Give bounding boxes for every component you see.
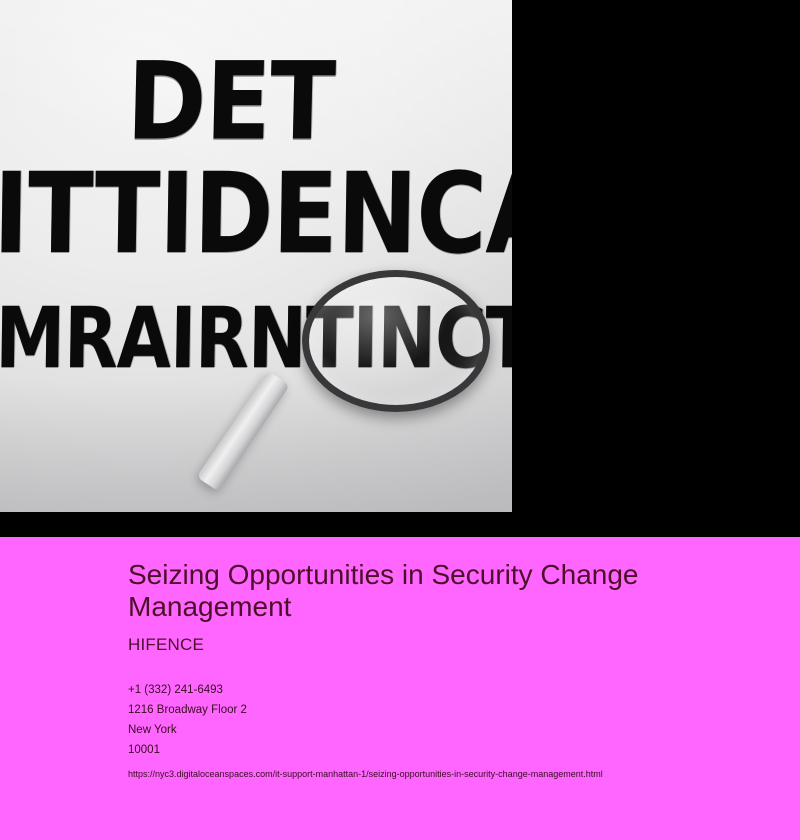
contact-block: +1 (332) 241-6493 1216 Broadway Floor 2 … [128, 681, 760, 760]
contact-street: 1216 Broadway Floor 2 [128, 701, 760, 721]
hero-scrawl-line-1: DET [125, 48, 335, 156]
brand-name: HIFENCE [128, 635, 760, 655]
page-title: Seizing Opportunities in Security Change… [128, 559, 728, 623]
info-content: Seizing Opportunities in Security Change… [128, 559, 760, 781]
article-hero-image: DET ITTIDENCA MRAIRNTINCTIDN [0, 0, 512, 512]
page-root: DET ITTIDENCA MRAIRNTINCTIDN Seizing Opp… [0, 0, 800, 840]
source-url-link[interactable]: https://nyc3.digitaloceanspaces.com/it-s… [128, 768, 760, 781]
hero-region: DET ITTIDENCA MRAIRNTINCTIDN [0, 0, 800, 537]
info-panel: Seizing Opportunities in Security Change… [0, 537, 800, 840]
hero-scrawl-line-3: MRAIRNTINCTIDN [0, 296, 512, 380]
contact-postal-code: 10001 [128, 741, 760, 761]
contact-city: New York [128, 721, 760, 741]
contact-phone[interactable]: +1 (332) 241-6493 [128, 681, 760, 701]
hero-scrawl-line-2: ITTIDENCA [0, 158, 512, 269]
